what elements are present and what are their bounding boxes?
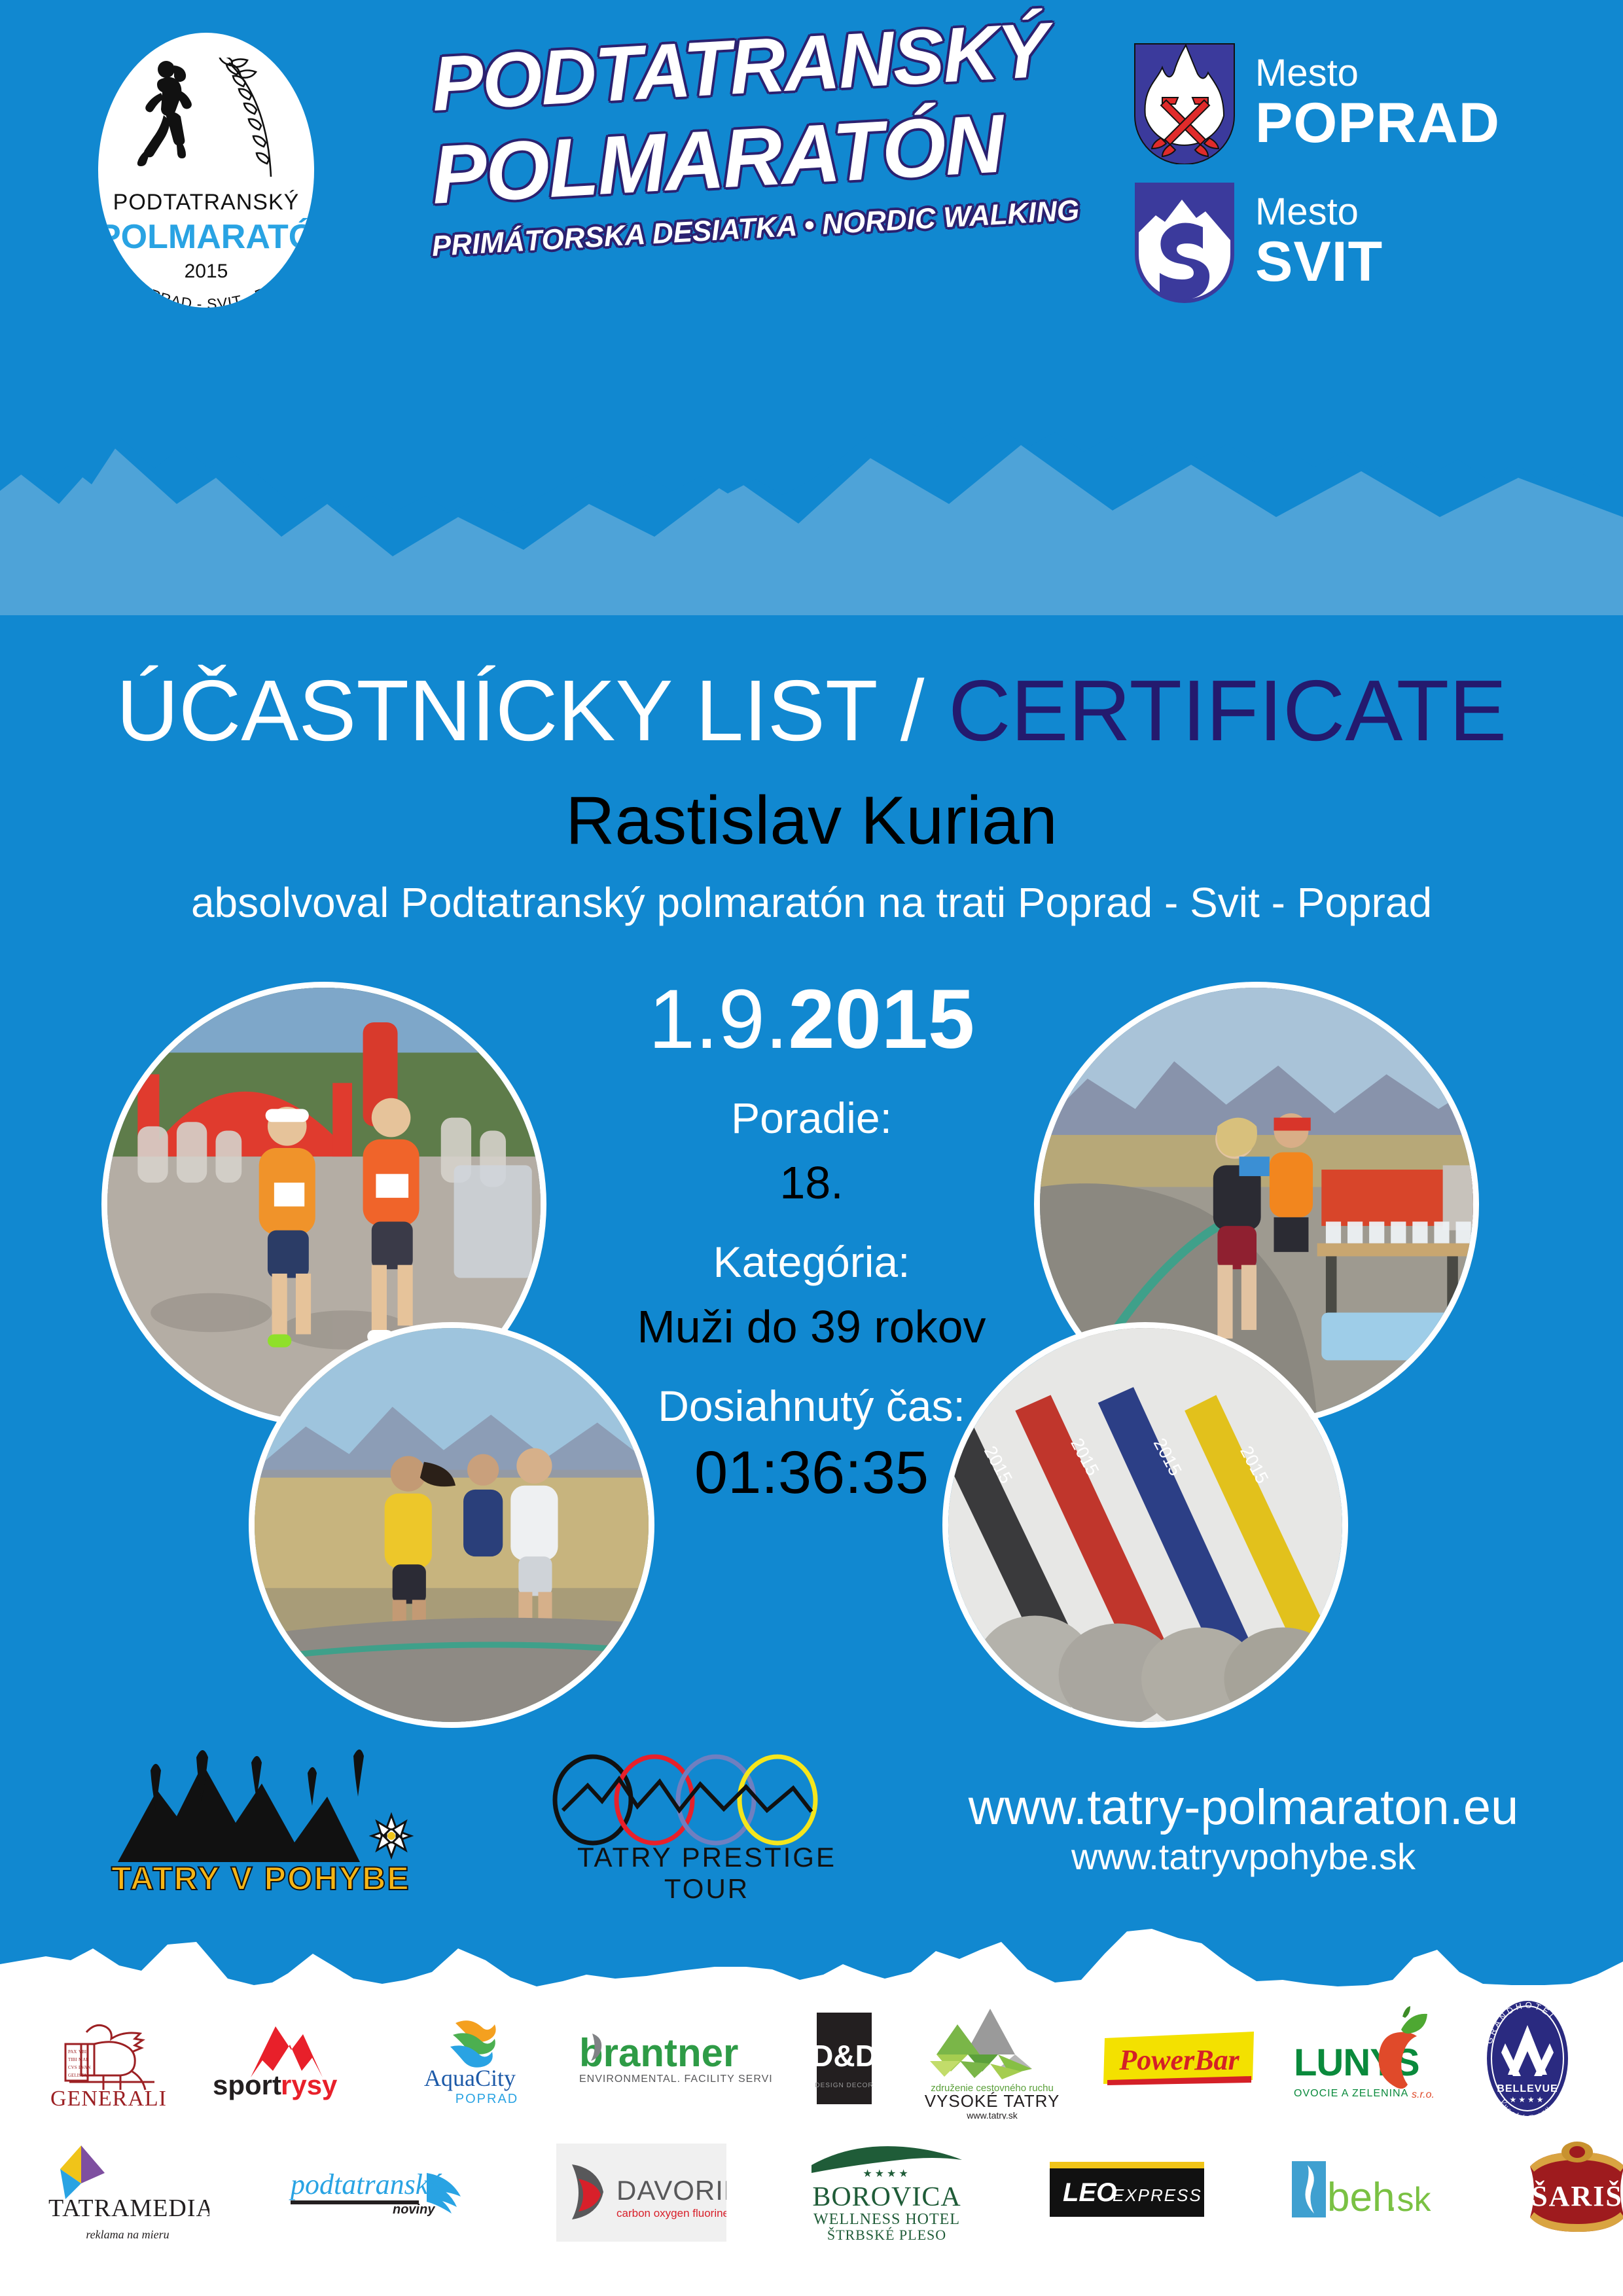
- certificate-page: PODTATRANSKÝ POLMARATÓN 2015 POPRAD - SV…: [0, 0, 1623, 2296]
- cert-title-separator: /: [876, 662, 948, 759]
- sponsor-brantner: brantner ENVIRONMENTAL. FACILITY SERVICE…: [575, 2019, 772, 2098]
- photo-field-runners: [249, 1322, 654, 1728]
- sponsor-powerbar: PowerBar: [1101, 2022, 1258, 2094]
- sponsor-row-1: PAXVBI TIBIMAR CVSEVAN GELISTA GENERALI …: [26, 1990, 1597, 2127]
- powerbar-word: PowerBar: [1119, 2044, 1240, 2076]
- tatramedia-word: TATRAMEDIA: [48, 2195, 209, 2222]
- city-logos: Mesto POPRAD Mesto SVIT: [1132, 38, 1551, 308]
- emblem-line2: POLMARATÓN: [98, 217, 314, 257]
- tatry-v-pohybe-label: TATRY V POHYBE: [111, 1859, 478, 1897]
- event-emblem: PODTATRANSKÝ POLMARATÓN 2015 POPRAD - SV…: [98, 33, 314, 308]
- sponsor-d-and-d: D&D DESIGN DECOR: [805, 2006, 883, 2111]
- sponsor-podtatranske-noviny: podtatranské noviny: [288, 2153, 478, 2232]
- rank-label: Poradie:: [550, 1094, 1073, 1141]
- emblem-route: POPRAD - SVIT - POPRAD: [98, 263, 306, 308]
- tatry-prestige-tour-label: TATRY PRESTIGE TOUR: [537, 1842, 877, 1905]
- rank-value: 18.: [550, 1157, 1073, 1208]
- tatramedia-tagline: reklama na mieru: [86, 2228, 169, 2241]
- noviny-word: noviny: [393, 2202, 435, 2217]
- leo-word: LEO: [1063, 2178, 1116, 2207]
- sponsor-grandhotel-bellevue: GRANDHOTEL BELLEVUE ★★★★ Vysoké Tatry: [1475, 1996, 1580, 2121]
- category-value: Muži do 39 rokov: [550, 1301, 1073, 1352]
- vysoke-tatry-triangles-icon: združenie cestovného ruchu VYSOKÉ TATRY …: [917, 1998, 1067, 2119]
- page-title: ÚČASTNÍCKY LIST / CERTIFICATE: [0, 668, 1623, 754]
- city-svit-small: Mesto: [1255, 192, 1383, 232]
- powerbar-logo-icon: PowerBar: [1101, 2022, 1258, 2094]
- sponsor-row-2: TATRAMEDIA reklama na mieru podtatranské…: [7, 2127, 1616, 2258]
- borovica-word: BOROVICA: [812, 2182, 961, 2212]
- sportrysy-mountain-icon: sport rysy: [207, 2009, 365, 2108]
- d-and-d-logo-icon: D&D DESIGN DECOR: [805, 2006, 883, 2111]
- d-and-d-tagline: DESIGN DECOR: [815, 2082, 873, 2089]
- laurel-wreath-icon: [217, 58, 296, 182]
- tatry-v-pohybe-logo: TATRY V POHYBE: [111, 1744, 478, 1908]
- svg-text:CVS: CVS: [68, 2065, 77, 2070]
- sponsor-aquacity: AquaCity POPRAD: [398, 2006, 542, 2111]
- poprad-coat-of-arms-icon: [1132, 43, 1237, 164]
- url-secondary[interactable]: www.tatryvpohybe.sk: [949, 1835, 1538, 1878]
- beh-word: beh: [1327, 2175, 1395, 2220]
- borovica-location: ŠTRBSKÉ PLESO: [827, 2227, 946, 2243]
- davorin-word: DAVORIN: [616, 2175, 726, 2206]
- leo-express-logo-icon: LEO EXPRESS: [1047, 2157, 1211, 2229]
- sponsor-leo-express: LEO EXPRESS: [1047, 2157, 1211, 2229]
- sportrysy-word-rysy: rysy: [281, 2070, 338, 2100]
- city-poprad-small: Mesto: [1255, 54, 1500, 93]
- aquacity-wave-icon: AquaCity POPRAD: [398, 2006, 542, 2111]
- generali-lion-icon: PAXVBI TIBIMAR CVSEVAN GELISTA GENERALI: [43, 2006, 174, 2111]
- vysoke-tatry-zcr-word: VYSOKÉ TATRY: [925, 2091, 1060, 2111]
- sponsor-lunys: LUNYS OVOCIE A ZELENINA s.r.o.: [1291, 2006, 1442, 2111]
- express-word: EXPRESS: [1113, 2185, 1202, 2205]
- d-and-d-word: D&D: [811, 2039, 877, 2073]
- sportrysy-word-sport: sport: [213, 2070, 281, 2100]
- event-date: 1.9.2015: [550, 975, 1073, 1064]
- event-date-day: 1.9.: [649, 973, 789, 1066]
- bellevue-stars: ★★★★: [1510, 2095, 1546, 2104]
- tatry-v-pohybe-mountain-icon: [111, 1744, 478, 1869]
- brantner-word: brantner: [579, 2031, 738, 2075]
- behsk-logo-icon: beh .sk: [1289, 2153, 1440, 2232]
- url-primary[interactable]: www.tatry-polmaraton.eu: [949, 1780, 1538, 1835]
- sponsor-davorin: DAVORIN carbon oxygen fluorine: [556, 2144, 726, 2242]
- generali-wordmark: GENERALI: [50, 2087, 167, 2111]
- svg-text:EVAN: EVAN: [79, 2065, 91, 2070]
- category-label: Kategória:: [550, 1238, 1073, 1285]
- website-links: www.tatry-polmaraton.eu www.tatryvpohybe…: [949, 1780, 1538, 1878]
- sponsor-generali: PAXVBI TIBIMAR CVSEVAN GELISTA GENERALI: [43, 2006, 174, 2111]
- lunys-tagline: OVOCIE A ZELENINA: [1294, 2088, 1408, 2099]
- svg-text:PAX: PAX: [68, 2049, 77, 2054]
- event-title-block: PODTATRANSKÝ POLMARATÓN PRIMÁTORSKA DESI…: [432, 46, 1126, 264]
- aquacity-wordmark: AquaCity: [424, 2065, 516, 2091]
- tatramedia-logo-icon: TATRAMEDIA reklama na mieru: [46, 2139, 209, 2247]
- emblem-route-arc: POPRAD - SVIT - POPRAD: [98, 263, 314, 308]
- svit-coat-of-arms-icon: [1132, 181, 1237, 303]
- sponsor-tatramedia: TATRAMEDIA reklama na mieru: [46, 2139, 209, 2247]
- borovica-sub: WELLNESS HOTEL: [813, 2211, 960, 2228]
- brantner-tagline: ENVIRONMENTAL. FACILITY SERVICES: [579, 2073, 772, 2085]
- tatry-prestige-tour-logo: TATRY PRESTIGE TOUR: [537, 1748, 877, 1911]
- aquacity-city: POPRAD: [455, 2092, 518, 2106]
- running-figure-icon: [128, 59, 207, 177]
- davorin-logo-icon: DAVORIN carbon oxygen fluorine: [556, 2144, 726, 2242]
- svg-text:STA: STA: [79, 2073, 87, 2078]
- achievement-statement: absolvoval Podtatranský polmaratón na tr…: [0, 880, 1623, 925]
- cert-title-en: CERTIFICATE: [948, 662, 1507, 759]
- sponsor-borovica: ★★★★ BOROVICA WELLNESS HOTEL ŠTRBSKÉ PLE…: [805, 2140, 969, 2245]
- podtatranske-noviny-icon: podtatranské noviny: [288, 2153, 478, 2232]
- city-svit: Mesto SVIT: [1132, 177, 1551, 308]
- city-svit-big: SVIT: [1255, 232, 1383, 292]
- sponsor-vysoke-tatry-zcr: združenie cestovného ruchu VYSOKÉ TATRY …: [917, 1998, 1067, 2119]
- mountain-band-graphic: [0, 340, 1623, 615]
- svg-text:POPRAD - SVIT - POPRAD: POPRAD - SVIT - POPRAD: [98, 263, 306, 308]
- svg-text:TIBI: TIBI: [68, 2057, 77, 2062]
- lunys-suffix: s.r.o.: [1412, 2089, 1435, 2100]
- vysoke-tatry-zcr-url: www.tatry.sk: [966, 2110, 1018, 2119]
- grandhotel-bellevue-icon: GRANDHOTEL BELLEVUE ★★★★ Vysoké Tatry: [1475, 1996, 1580, 2121]
- city-poprad: Mesto POPRAD: [1132, 38, 1551, 169]
- sponsor-sportrysy: sport rysy: [207, 2009, 365, 2108]
- brantner-wordmark-icon: brantner ENVIRONMENTAL. FACILITY SERVICE…: [575, 2019, 772, 2098]
- event-date-year: 2015: [788, 973, 974, 1066]
- sponsor-saris: ŠARIŠ: [1518, 2139, 1623, 2247]
- city-poprad-big: POPRAD: [1255, 93, 1500, 153]
- davorin-tagline: carbon oxygen fluorine: [616, 2207, 726, 2219]
- photo-medals: 2015 2015 2015 2015: [942, 1322, 1348, 1728]
- borovica-stars: ★★★★: [863, 2168, 910, 2179]
- emblem-line1: PODTATRANSKÝ: [98, 190, 314, 215]
- svg-text:MAR: MAR: [79, 2057, 89, 2062]
- page-header: PODTATRANSKÝ POLMARATÓN 2015 POPRAD - SV…: [0, 0, 1623, 367]
- sponsor-behsk: beh .sk: [1289, 2153, 1440, 2232]
- saris-word: ŠARIŠ: [1531, 2179, 1623, 2212]
- saris-logo-icon: ŠARIŠ: [1518, 2139, 1623, 2247]
- borovica-hotel-icon: ★★★★ BOROVICA WELLNESS HOTEL ŠTRBSKÉ PLE…: [805, 2140, 969, 2245]
- cert-title-sk: ÚČASTNÍCKY LIST: [116, 662, 876, 759]
- podtatranske-word: podtatranské: [289, 2168, 442, 2200]
- bellevue-word: BELLEVUE: [1497, 2083, 1558, 2094]
- svg-text:VBI: VBI: [79, 2049, 87, 2054]
- svg-text:GELI: GELI: [68, 2073, 79, 2078]
- sk-word: .sk: [1387, 2181, 1431, 2219]
- sponsor-strip: PAXVBI TIBIMAR CVSEVAN GELISTA GENERALI …: [0, 1990, 1623, 2296]
- participant-name: Rastislav Kurian: [0, 785, 1623, 856]
- lunys-apple-icon: LUNYS OVOCIE A ZELENINA s.r.o.: [1291, 2006, 1442, 2111]
